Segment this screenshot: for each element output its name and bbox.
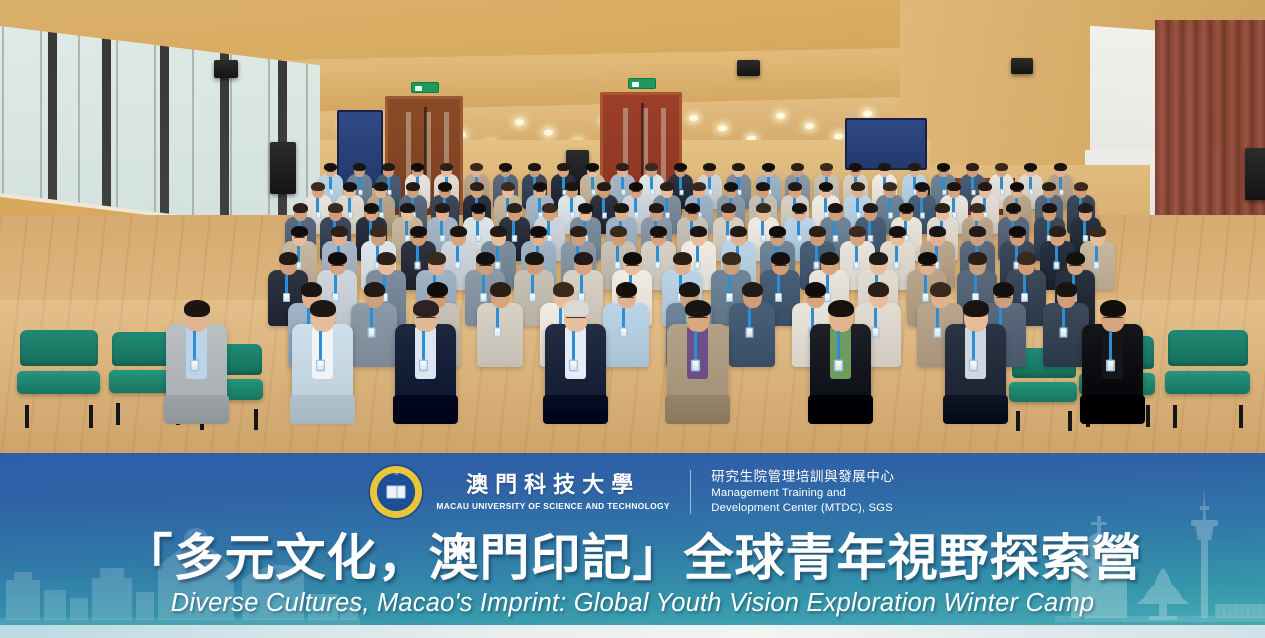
logo-lockup: 澳門科技大學 MACAU UNIVERSITY OF SCIENCE AND T… [0, 461, 1265, 523]
exit-sign-left [411, 82, 439, 93]
empty-chair [1168, 330, 1248, 408]
banner-bottom-strip [0, 625, 1265, 638]
speaker-7 [1245, 148, 1265, 200]
front-row-participant [1082, 300, 1143, 424]
seal-inner [383, 479, 410, 506]
university-name-cn: 澳門科技大學 [466, 473, 640, 497]
front-row-participant [810, 300, 871, 424]
open-book-icon [387, 486, 406, 499]
university-name-en: MACAU UNIVERSITY OF SCIENCE AND TECHNOLO… [436, 501, 669, 511]
department-name: 研究生院管理培訓與發展中心 Management Training and De… [711, 468, 894, 516]
speaker-6 [1011, 58, 1033, 74]
macau-ust-seal-icon [370, 466, 422, 518]
university-name: 澳門科技大學 MACAU UNIVERSITY OF SCIENCE AND T… [436, 473, 669, 510]
department-name-en-line1: Management Training and [711, 486, 894, 501]
front-row-participant [395, 300, 456, 424]
title-banner: 澳門科技大學 MACAU UNIVERSITY OF SCIENCE AND T… [0, 453, 1265, 638]
speaker-1 [270, 142, 296, 194]
department-name-cn: 研究生院管理培訓與發展中心 [711, 468, 894, 486]
front-row-participant [545, 300, 606, 424]
participant [351, 282, 397, 370]
speaker-2 [214, 60, 238, 78]
empty-chair [20, 330, 98, 408]
event-poster: 澳門科技大學 MACAU UNIVERSITY OF SCIENCE AND T… [0, 0, 1265, 638]
participant [729, 282, 775, 370]
front-row-participant [166, 300, 227, 424]
event-title-cn: 「多元文化，澳門印記」全球青年視野探索營 [0, 529, 1265, 587]
speaker-4 [737, 60, 760, 76]
participant [477, 282, 523, 370]
event-title-en: Diverse Cultures, Macao's Imprint: Globa… [0, 589, 1265, 618]
lockup-divider [690, 470, 692, 514]
front-row-participant [945, 300, 1006, 424]
department-name-en-line2: Development Center (MTDC), SGS [711, 501, 894, 516]
front-row-participant [667, 300, 728, 424]
exit-sign-right [628, 78, 656, 89]
group-photo [0, 0, 1265, 455]
participant [603, 282, 649, 370]
front-row-participant [292, 300, 353, 424]
